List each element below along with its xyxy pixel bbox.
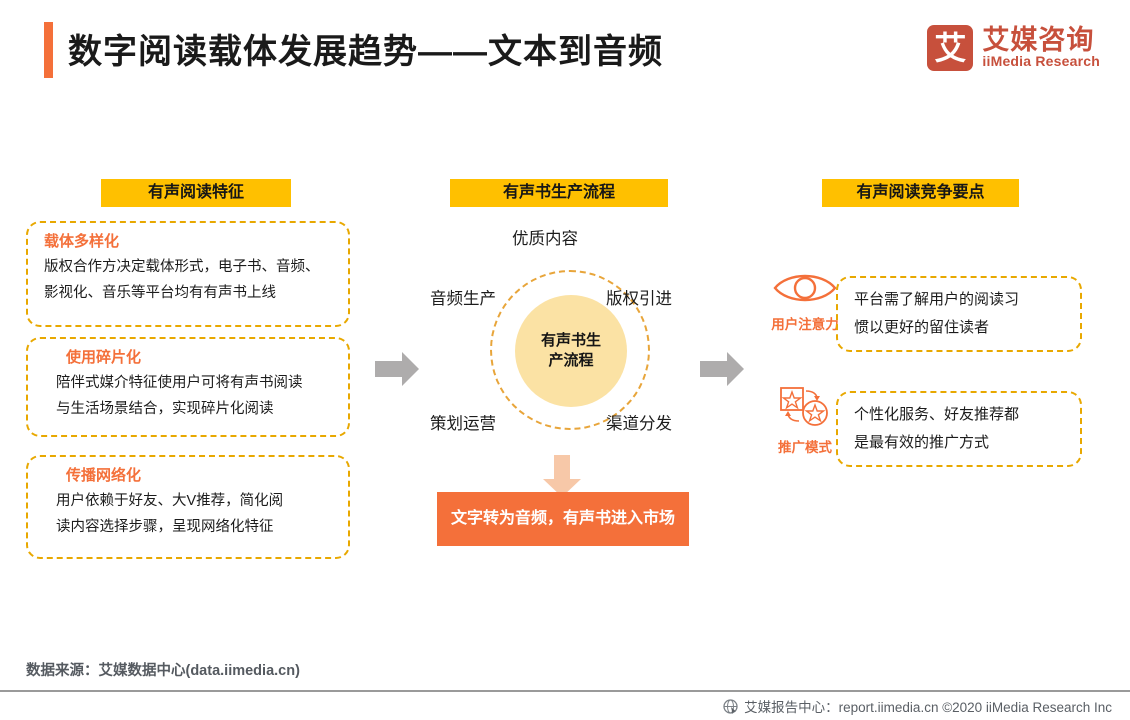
feature-card-line-2: 与生活场景结合，实现碎片化阅读 (44, 396, 336, 422)
feature-card-line-1: 陪伴式媒介特征使用户可将有声书阅读 (44, 370, 336, 396)
point-card-line-1: 个性化服务、好友推荐都 (854, 401, 1080, 429)
feature-card-line-2: 读内容选择步骤，呈现网络化特征 (44, 514, 336, 540)
feature-card: 使用碎片化 陪伴式媒介特征使用户可将有声书阅读 与生活场景结合，实现碎片化阅读 (26, 337, 350, 437)
footer-report-center: 艾媒报告中心：report.iimedia.cn ©2020 iiMedia R… (744, 696, 1112, 716)
column-header-left: 有声阅读特征 (101, 179, 291, 207)
cycle-label-top-right: 版权引进 (606, 285, 672, 309)
eye-icon (772, 270, 838, 306)
cycle-center-circle: 有声书生产流程 (515, 295, 627, 407)
conclusion-banner-text: 文字转为音频，有声书进入市场 (451, 508, 675, 530)
point-card-line-2: 是最有效的推广方式 (854, 429, 1080, 457)
feature-card-line-2: 影视化、音乐等平台均有有声书上线 (44, 280, 336, 306)
feature-card-line-1: 版权合作方决定载体形式，电子书、音频、 (44, 254, 336, 280)
cycle-center-label: 有声书生产流程 (534, 331, 608, 371)
logo-mark-icon: 艾 (927, 25, 973, 71)
logo-name-cn: 艾媒咨询 (982, 26, 1100, 54)
feature-card: 传播网络化 用户依赖于好友、大V推荐，简化阅 读内容选择步骤，呈现网络化特征 (26, 455, 350, 559)
feature-card-title: 载体多样化 (44, 231, 336, 253)
conclusion-banner: 文字转为音频，有声书进入市场 (437, 492, 689, 546)
logo-name-en: iiMedia Research (982, 54, 1100, 69)
cycle-label-top-left: 音频生产 (430, 285, 496, 309)
column-header-right: 有声阅读竞争要点 (822, 179, 1019, 207)
arrow-right-icon (700, 352, 744, 386)
cycle-label-bottom-right: 渠道分发 (606, 410, 672, 434)
title-accent-bar (44, 22, 53, 78)
page-header: 数字阅读载体发展趋势——文本到音频 艾 艾媒咨询 iiMedia Researc… (0, 0, 1130, 100)
feature-card-title: 传播网络化 (44, 465, 336, 487)
feature-card: 载体多样化 版权合作方决定载体形式，电子书、音频、 影视化、音乐等平台均有有声书… (26, 221, 350, 327)
feature-card-title: 使用碎片化 (44, 347, 336, 369)
logo-mark-glyph: 艾 (927, 32, 973, 64)
logo-text-wrap: 艾媒咨询 iiMedia Research (982, 26, 1100, 70)
promotion-stars-icon (775, 385, 835, 429)
footer-bar: 艾媒报告中心：report.iimedia.cn ©2020 iiMedia R… (0, 692, 1130, 720)
column-header-middle: 有声书生产流程 (450, 179, 668, 207)
cycle-label-top: 优质内容 (512, 225, 578, 249)
point-card: 平台需了解用户的阅读习 惯以更好的留住读者 (836, 276, 1082, 352)
page-title: 数字阅读载体发展趋势——文本到音频 (68, 24, 663, 73)
audiobook-production-cycle-diagram: 有声书生产流程 优质内容 音频生产 版权引进 策划运营 渠道分发 (430, 225, 690, 475)
point-card: 个性化服务、好友推荐都 是最有效的推广方式 (836, 391, 1082, 467)
feature-card-line-1: 用户依赖于好友、大V推荐，简化阅 (44, 488, 336, 514)
globe-icon (723, 699, 738, 714)
point-card-line-2: 惯以更好的留住读者 (854, 314, 1080, 342)
footer-data-source: 数据来源：艾媒数据中心(data.iimedia.cn) (26, 659, 300, 680)
arrow-down-icon (543, 455, 581, 497)
point-card-line-1: 平台需了解用户的阅读习 (854, 286, 1080, 314)
cycle-label-bottom-left: 策划运营 (430, 410, 496, 434)
brand-logo: 艾 艾媒咨询 iiMedia Research (927, 22, 1100, 74)
arrow-right-icon (375, 352, 419, 386)
